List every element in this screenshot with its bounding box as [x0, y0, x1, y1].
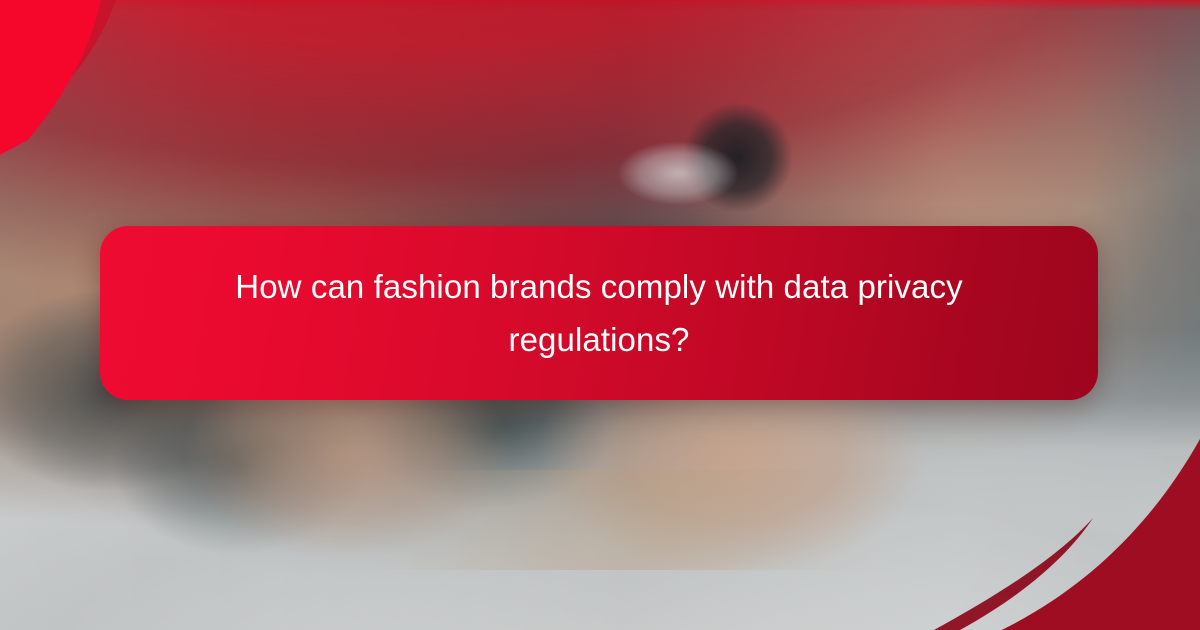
top-left-swoosh-accent — [21, 0, 118, 122]
bottom-right-swoosh-main — [989, 428, 1200, 630]
background-floor-streak — [180, 470, 1080, 570]
bottom-right-crimson-swoosh — [927, 382, 1200, 630]
question-text: How can fashion brands comply with data … — [234, 260, 964, 367]
bottom-right-swoosh-accent — [927, 518, 1093, 630]
top-left-swoosh-main — [0, 0, 102, 158]
top-left-red-swoosh — [0, 0, 208, 183]
promo-banner: How can fashion brands comply with data … — [0, 0, 1200, 630]
question-card: How can fashion brands comply with data … — [100, 226, 1098, 400]
